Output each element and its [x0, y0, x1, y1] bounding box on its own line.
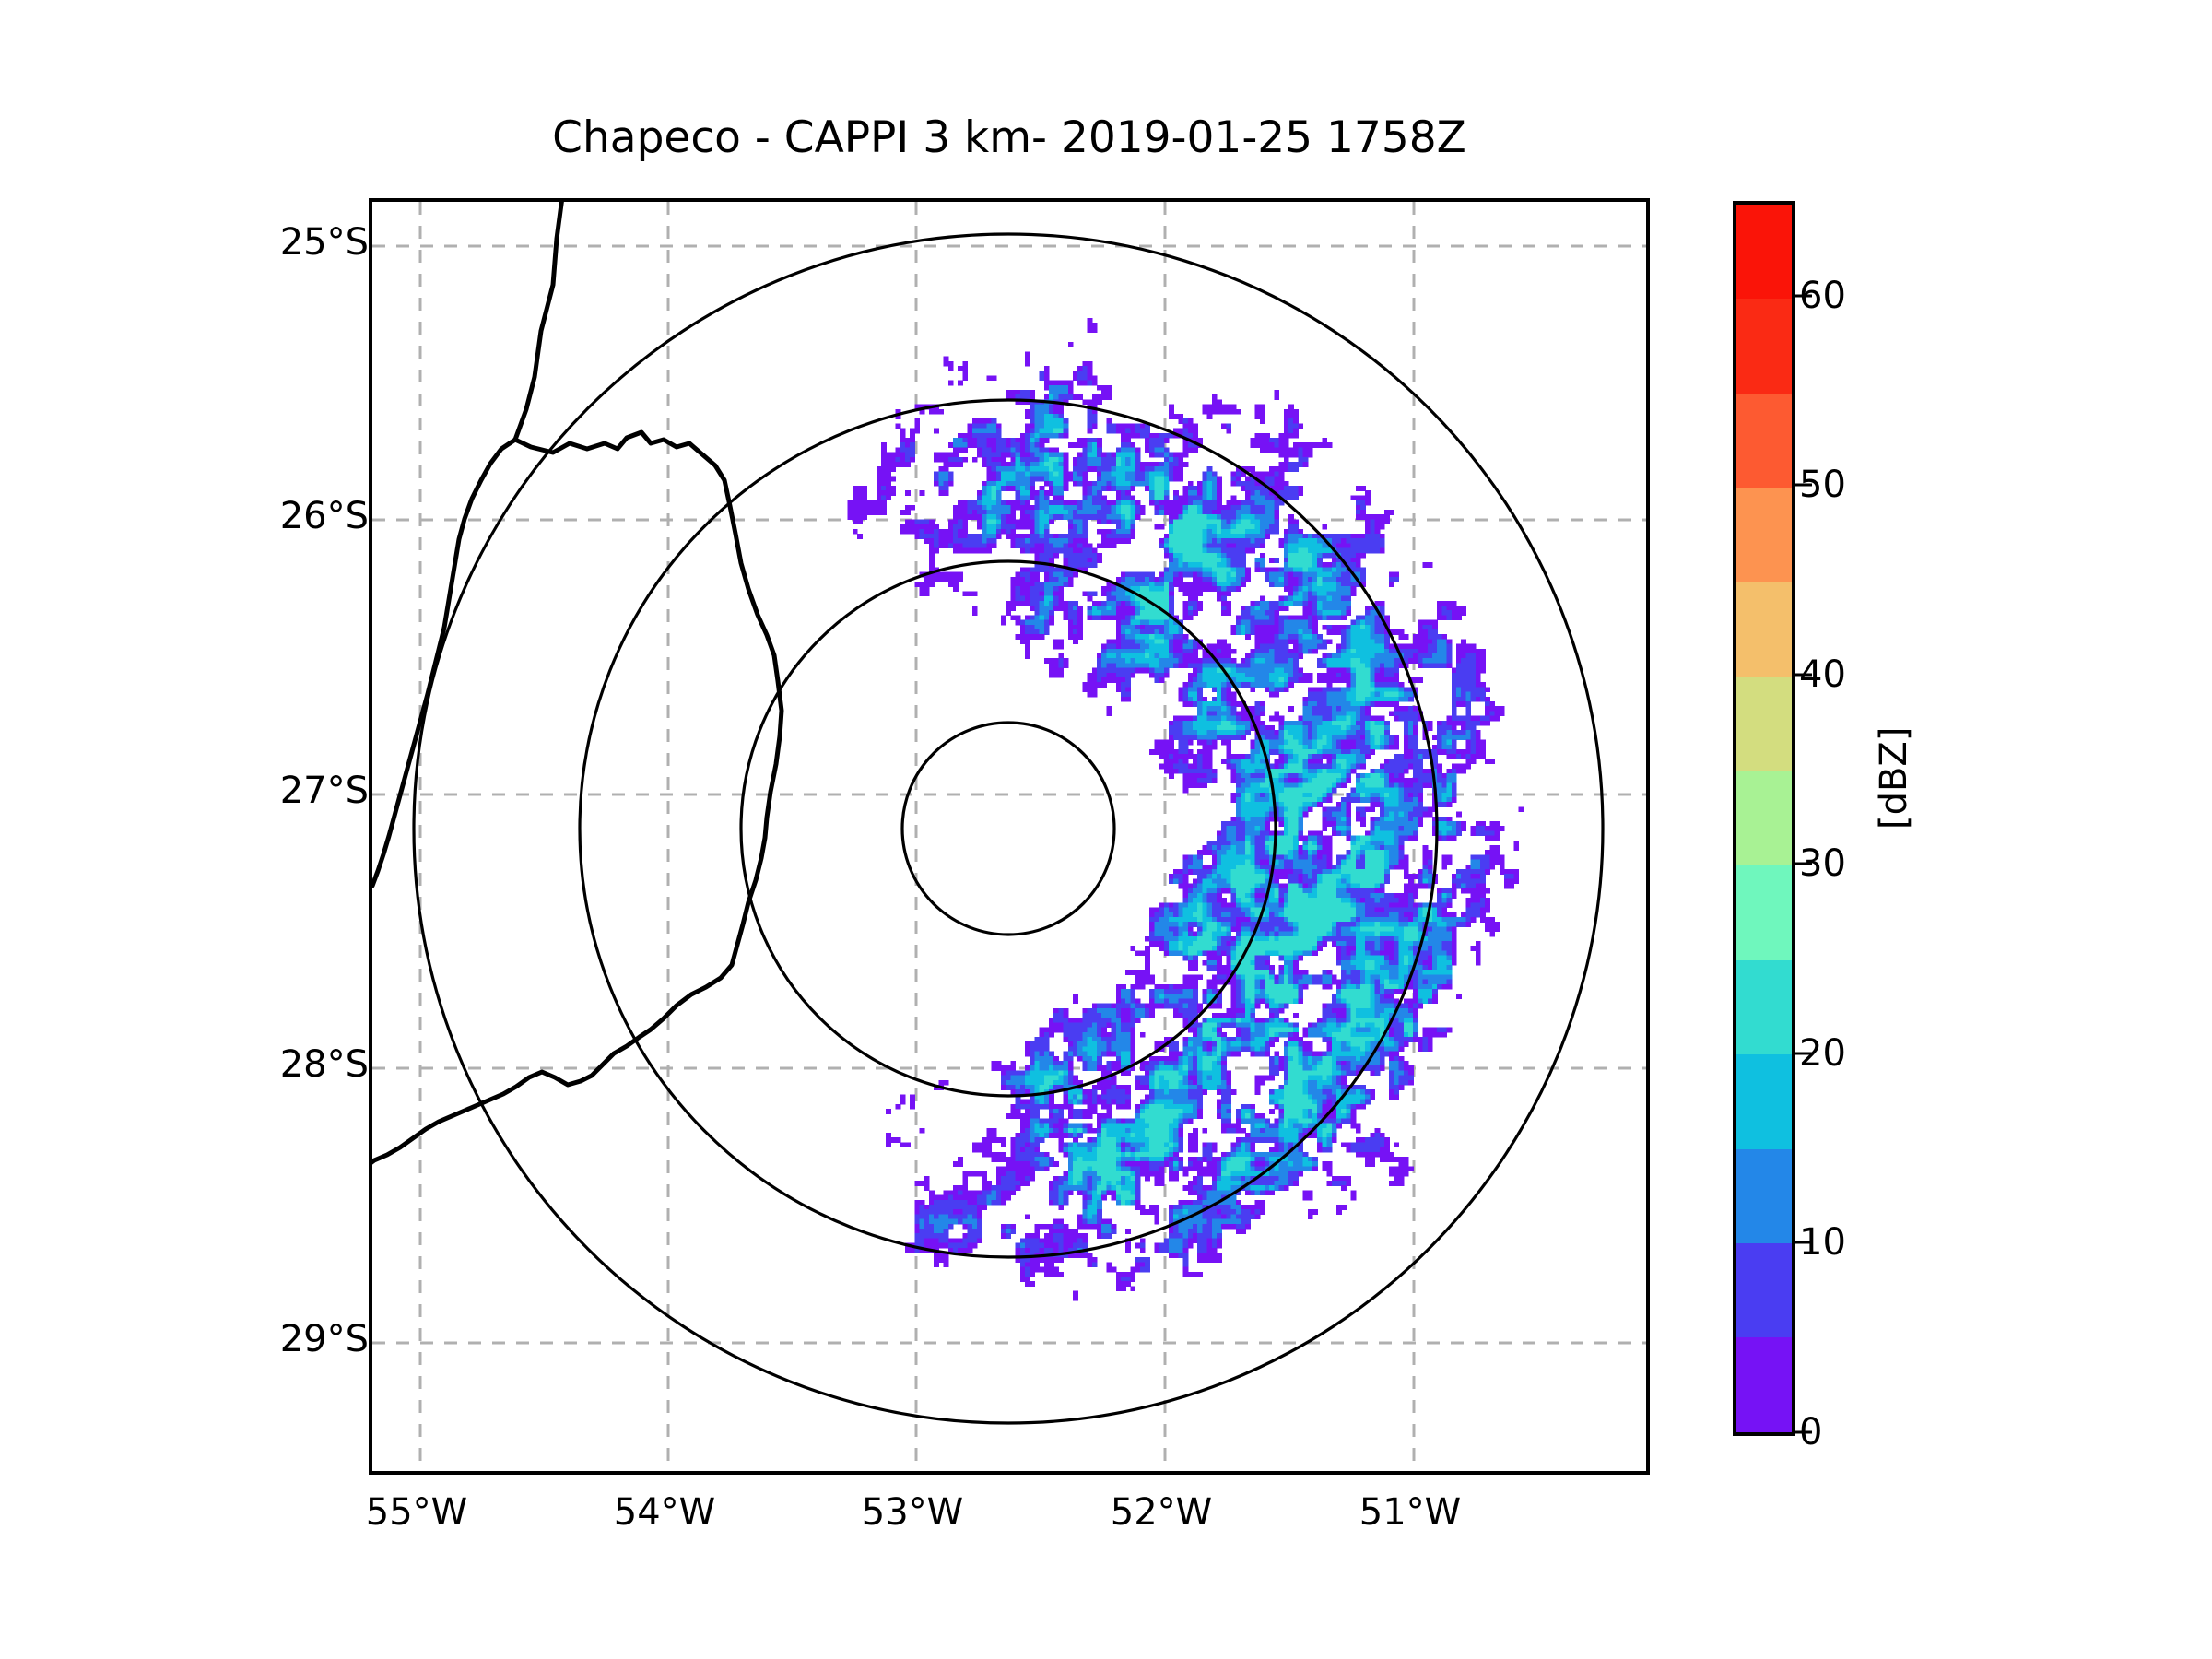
- colorbar-ticklabel-10: 10: [1799, 1221, 1846, 1264]
- range-ring-1: [902, 723, 1114, 935]
- colorbar-axis-label: [dBZ]: [1873, 727, 1915, 829]
- radar-figure: Chapeco - CAPPI 3 km- 2019-01-25 1758Z: [0, 0, 2212, 1659]
- y-ticklabel-27S: 27°S: [194, 770, 369, 812]
- x-ticklabel-55W: 55°W: [366, 1491, 467, 1534]
- colorbar-band-25-30: [1736, 865, 1792, 959]
- colorbar-band-60-65: [1736, 205, 1792, 299]
- y-ticklabel-26S: 26°S: [194, 495, 369, 537]
- colorbar-ticklabel-0: 0: [1799, 1411, 1822, 1453]
- y-ticklabel-25S: 25°S: [194, 221, 369, 264]
- range-ring-4: [414, 234, 1603, 1423]
- page-title: Chapeco - CAPPI 3 km- 2019-01-25 1758Z: [369, 112, 1650, 163]
- range-ring-2: [741, 561, 1276, 1096]
- y-axis-ticklabels: 25°S 26°S 27°S 28°S 29°S: [0, 0, 369, 1659]
- colorbar-band-30-35: [1736, 771, 1792, 865]
- colorbar-ticklabel-40: 40: [1799, 653, 1846, 696]
- colorbar-band-10-15: [1736, 1149, 1792, 1243]
- colorbar-band-55-60: [1736, 299, 1792, 393]
- colorbar[interactable]: [1733, 201, 1795, 1436]
- colorbar-band-45-50: [1736, 488, 1792, 582]
- colorbar-band-0-5: [1736, 1337, 1792, 1431]
- range-ring-3: [580, 400, 1437, 1257]
- colorbar-ticklabel-60: 60: [1799, 275, 1846, 317]
- x-ticklabel-53W: 53°W: [862, 1491, 963, 1534]
- colorbar-ticklabel-50: 50: [1799, 464, 1846, 506]
- colorbar-band-5-10: [1736, 1243, 1792, 1337]
- y-ticklabel-29S: 29°S: [194, 1318, 369, 1360]
- range-rings-layer: [372, 202, 1646, 1471]
- colorbar-band-15-20: [1736, 1054, 1792, 1148]
- colorbar-ticklabel-30: 30: [1799, 842, 1846, 885]
- colorbar-band-50-55: [1736, 394, 1792, 488]
- x-ticklabel-54W: 54°W: [614, 1491, 715, 1534]
- colorbar-ticklabel-20: 20: [1799, 1032, 1846, 1075]
- colorbar-band-40-45: [1736, 582, 1792, 677]
- colorbar-band-35-40: [1736, 677, 1792, 771]
- x-ticklabel-52W: 52°W: [1111, 1491, 1212, 1534]
- x-ticklabel-51W: 51°W: [1359, 1491, 1461, 1534]
- y-ticklabel-28S: 28°S: [194, 1043, 369, 1086]
- colorbar-band-20-25: [1736, 960, 1792, 1054]
- plot-clip: [372, 202, 1646, 1471]
- map-plot-area[interactable]: [369, 198, 1650, 1475]
